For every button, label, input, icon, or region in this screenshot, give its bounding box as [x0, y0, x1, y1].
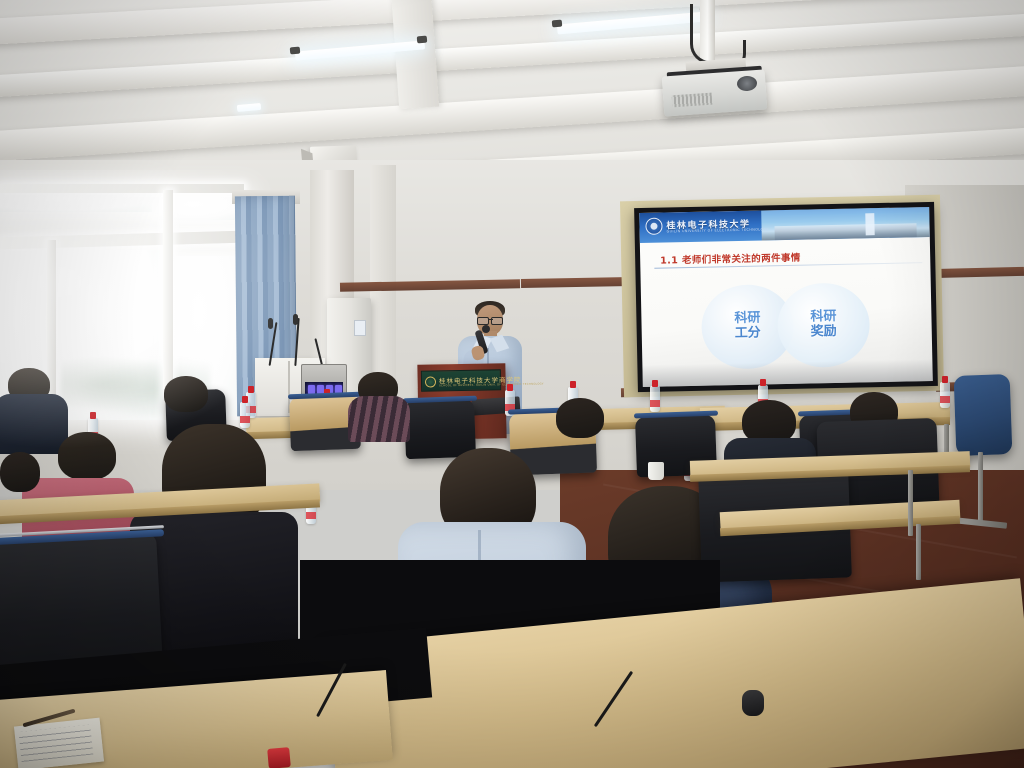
attendee-body — [348, 396, 410, 442]
water-bottle[interactable] — [240, 402, 250, 428]
attendee-body — [0, 394, 68, 454]
screen-shadow — [642, 359, 932, 387]
university-seal-icon — [425, 376, 436, 387]
venn-circle-right: 科研 奖励 — [777, 282, 871, 368]
microphone-head-icon — [268, 318, 273, 329]
slide-surface: 桂林电子科技大学 GUILIN UNIVERSITY OF ELECTRONIC… — [639, 207, 933, 387]
venn-left-label: 科研 工分 — [734, 312, 761, 342]
university-name-en: GUILIN UNIVERSITY OF ELECTRONIC TECHNOLO… — [667, 227, 769, 233]
podium-plaque: 桂林电子科技大学商学院 SCHOOL OF BUSINESS, GUILIN U… — [421, 369, 501, 391]
university-seal-icon — [645, 218, 662, 235]
window-pane — [0, 190, 152, 212]
light-clip — [290, 47, 301, 55]
table-leg — [908, 470, 913, 536]
office-chair[interactable] — [954, 374, 1013, 456]
window-pane — [161, 196, 243, 220]
venn-right-label: 科研 奖励 — [810, 310, 837, 340]
window-mullion — [0, 184, 244, 193]
ceiling-cross-beam — [391, 0, 439, 109]
chair[interactable] — [404, 399, 476, 459]
slide-title: 1.1 老师们非常关注的两件事情 — [660, 250, 801, 267]
water-bottle[interactable] — [650, 386, 660, 412]
chair-post — [978, 452, 983, 524]
slide-banner: 桂林电子科技大学 GUILIN UNIVERSITY OF ELECTRONIC… — [639, 207, 930, 243]
attendee-head — [556, 398, 604, 438]
table-leg — [916, 524, 921, 580]
paper-cup[interactable] — [648, 462, 664, 480]
attendee-head — [164, 376, 208, 412]
venn-diagram: 科研 工分 科研 奖励 — [701, 282, 879, 370]
notebook-lines — [19, 725, 94, 762]
eyeglasses-bridge — [489, 319, 493, 320]
projection-screen: 桂林电子科技大学 GUILIN UNIVERSITY OF ELECTRONIC… — [634, 202, 938, 392]
conference-room-scene: 桂林电子科技大学 GUILIN UNIVERSITY OF ELECTRONIC… — [0, 0, 1024, 768]
microphone-base — [742, 690, 764, 716]
microphone-head-icon — [482, 325, 490, 333]
venn-left-line2: 工分 — [735, 327, 761, 342]
microphone-head-icon — [293, 314, 298, 325]
attendee-head — [0, 452, 40, 492]
campus-photo — [761, 207, 930, 241]
venn-right-line2: 奖励 — [811, 325, 837, 340]
water-bottle[interactable] — [940, 382, 950, 408]
bottle-cap[interactable] — [267, 747, 291, 768]
light-clip — [552, 20, 563, 28]
attendee-head — [58, 432, 116, 480]
light-clip — [417, 36, 428, 44]
